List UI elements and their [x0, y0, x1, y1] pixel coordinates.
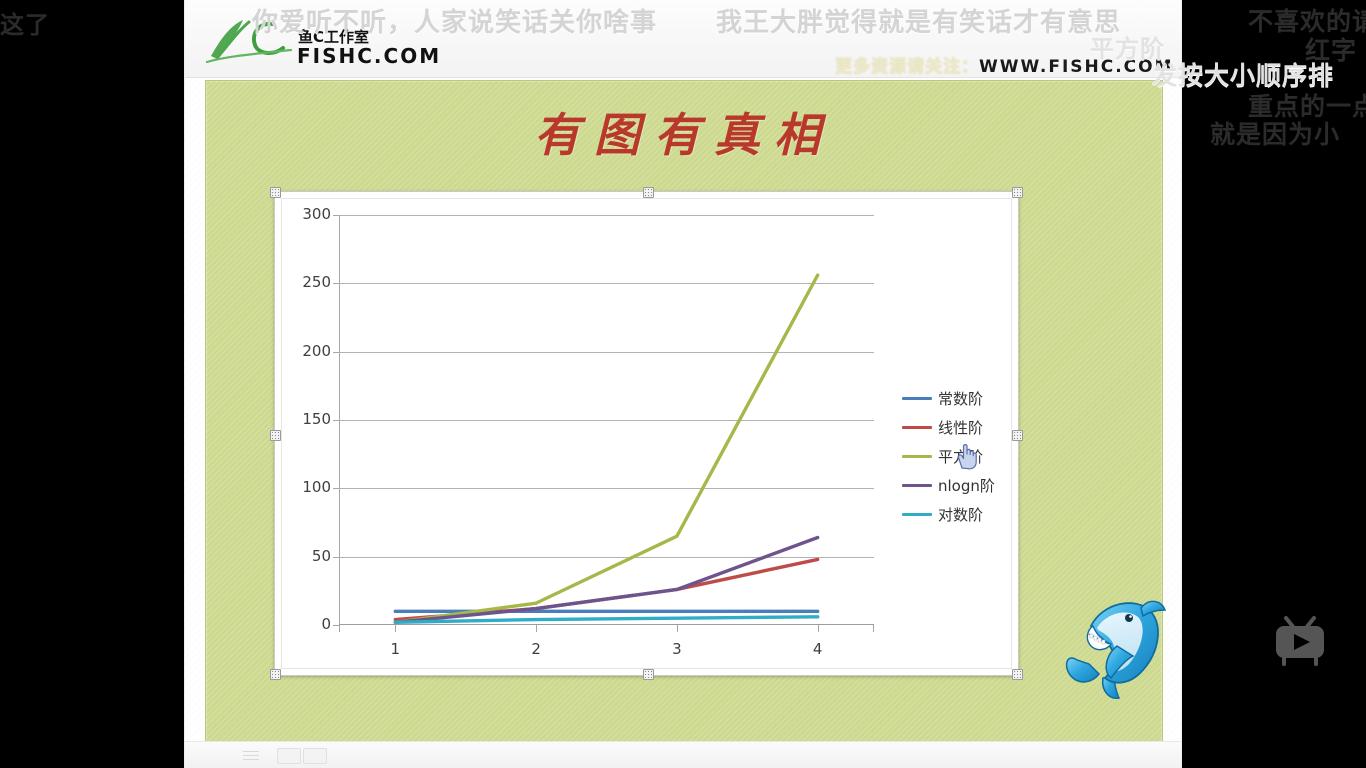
danmaku-comment: 我王大胖觉得就是有笑话才有意思 [716, 2, 1121, 39]
x-tick-label: 3 [657, 640, 697, 658]
chart-selection-frame[interactable]: 050100150200250300 1234 常数阶线性阶平方阶nlogn阶对… [274, 191, 1019, 676]
resize-handle-bottom-center[interactable] [643, 669, 654, 680]
legend-label: 平方阶 [938, 446, 983, 467]
resize-handle-bottom-right[interactable] [1012, 669, 1023, 680]
resize-handle-top-right[interactable] [1012, 187, 1023, 198]
chart-legend[interactable]: 常数阶线性阶平方阶nlogn阶对数阶 [902, 384, 1012, 529]
x-tick-label: 2 [516, 640, 556, 658]
x-tick-mark [677, 625, 678, 632]
legend-color-swatch [902, 397, 932, 400]
y-tick-label: 50 [271, 547, 331, 565]
slide-canvas[interactable]: 有图有真相 [205, 80, 1163, 744]
bilibili-tv-play-icon [1266, 612, 1334, 670]
legend-label: nlogn阶 [938, 475, 995, 496]
y-tick-label: 300 [271, 205, 331, 223]
chart-plot-area[interactable]: 050100150200250300 1234 常数阶线性阶平方阶nlogn阶对… [281, 198, 1012, 669]
logo-en-text: FISHC.COM [297, 44, 441, 68]
x-tick-mark [395, 625, 396, 632]
legend-color-swatch [902, 513, 932, 516]
chart-series-lines [339, 215, 874, 625]
y-tick-label: 250 [271, 273, 331, 291]
resize-handle-bottom-left[interactable] [270, 669, 281, 680]
legend-label: 线性阶 [938, 417, 983, 438]
shark-mascot [1059, 586, 1177, 704]
resize-handle-middle-right[interactable] [1012, 430, 1023, 441]
resize-handle-top-left[interactable] [270, 187, 281, 198]
powerpoint-window: 鱼C工作室 FISHC.COM 更多资源请关注：WWW.FISHC.COM 有图… [185, 0, 1181, 768]
x-tick-mark [536, 625, 537, 632]
legend-label: 常数阶 [938, 388, 983, 409]
screen: 鱼C工作室 FISHC.COM 更多资源请关注：WWW.FISHC.COM 有图… [0, 0, 1366, 768]
bottom-bar-lines-icon[interactable] [240, 748, 262, 762]
legend-item[interactable]: 对数阶 [902, 500, 1012, 529]
x-axis-origin-tick [339, 625, 340, 632]
y-tick-label: 0 [271, 615, 331, 633]
resize-handle-middle-left[interactable] [270, 430, 281, 441]
y-tick-label: 200 [271, 342, 331, 360]
promo-cn-text: 更多资源请关注： [835, 57, 979, 77]
x-tick-mark [818, 625, 819, 632]
legend-item[interactable]: nlogn阶 [902, 471, 1012, 500]
legend-item[interactable]: 平方阶 [902, 442, 1012, 471]
slide-title: 有图有真相 [206, 99, 1162, 165]
y-tick-label: 100 [271, 478, 331, 496]
legend-item[interactable]: 常数阶 [902, 384, 1012, 413]
danmaku-comment: 就是因为小 [1210, 115, 1340, 151]
resize-handle-top-center[interactable] [643, 187, 654, 198]
legend-color-swatch [902, 455, 932, 458]
legend-label: 对数阶 [938, 504, 983, 525]
legend-color-swatch [902, 484, 932, 487]
bottom-bar-button-1[interactable] [277, 748, 301, 764]
chart-object[interactable]: 050100150200250300 1234 常数阶线性阶平方阶nlogn阶对… [274, 191, 1019, 676]
x-axis-end-tick [873, 625, 874, 632]
legend-item[interactable]: 线性阶 [902, 413, 1012, 442]
chart-axes: 050100150200250300 1234 [339, 215, 874, 625]
legend-color-swatch [902, 426, 932, 429]
app-bottom-bar [185, 741, 1181, 768]
x-tick-label: 4 [798, 640, 838, 658]
series-line [395, 538, 817, 623]
danmaku-comment: 你爱听不听，人家说笑话关你啥事 [252, 2, 657, 39]
y-tick-label: 150 [271, 410, 331, 428]
bottom-bar-button-2[interactable] [303, 748, 327, 764]
x-tick-label: 1 [375, 640, 415, 658]
danmaku-comment: 这了 [0, 5, 50, 40]
series-line [395, 275, 817, 622]
